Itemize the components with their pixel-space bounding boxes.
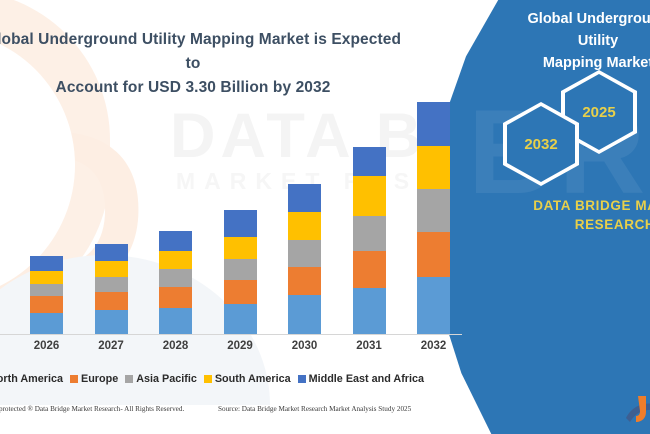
legend-swatch-icon <box>298 375 306 383</box>
chart-legend: North AmericaEuropeAsia PacificSouth Ame… <box>0 371 448 387</box>
bar-segment-europe <box>224 280 257 304</box>
bar-segment-north-america <box>288 295 321 334</box>
brand-logo-icon <box>620 392 650 426</box>
bar-2029 <box>224 210 257 334</box>
panel-title-line-1: Global Underground Utility <box>508 8 650 52</box>
x-tick-2028: 2028 <box>153 340 199 352</box>
bar-segment-south-america <box>30 271 63 284</box>
legend-item-south-america: South America <box>204 373 291 385</box>
bar-segment-middle-east-and-africa <box>95 244 128 261</box>
bar-segment-europe <box>353 251 386 288</box>
legend-item-europe: Europe <box>70 373 118 385</box>
x-tick-2026: 2026 <box>24 340 70 352</box>
bar-segment-europe <box>417 232 450 277</box>
bar-segment-asia-pacific <box>95 277 128 292</box>
bar-segment-asia-pacific <box>30 284 63 297</box>
infographic-canvas: D DATA BRIDGE MARKET RESEARCH Global Und… <box>0 0 650 434</box>
bar-segment-north-america <box>353 288 386 334</box>
bar-segment-asia-pacific <box>224 259 257 280</box>
bar-segment-asia-pacific <box>288 240 321 267</box>
panel-title-line-2: Mapping Market <box>508 52 650 74</box>
legend-swatch-icon <box>204 375 212 383</box>
brand-name-line-1: DATA BRIDGE MARKET <box>520 196 650 215</box>
legend-label: Middle East and Africa <box>309 373 424 385</box>
brand-name: DATA BRIDGE MARKET RESEARCH <box>520 196 650 234</box>
bar-segment-europe <box>288 267 321 295</box>
x-axis-tick-labels: 20252026202720282029203020312032 <box>0 340 470 360</box>
page-title-line-2: Account for USD 3.30 Billion by 2032 <box>0 76 408 100</box>
bar-segment-north-america <box>30 313 63 334</box>
hexagon-year-2032-label: 2032 <box>507 106 575 182</box>
x-tick-2032: 2032 <box>411 340 457 352</box>
legend-item-north-america: North America <box>0 373 63 385</box>
bar-segment-south-america <box>95 261 128 277</box>
legend-item-middle-east-and-africa: Middle East and Africa <box>298 373 424 385</box>
chart-plot-area <box>0 96 470 334</box>
bar-segment-europe <box>159 287 192 308</box>
bar-segment-middle-east-and-africa <box>159 231 192 250</box>
legend-label: Europe <box>81 373 118 385</box>
bar-segment-south-america <box>288 212 321 240</box>
legend-item-asia-pacific: Asia Pacific <box>125 373 197 385</box>
bar-segment-south-america <box>417 146 450 189</box>
bar-segment-north-america <box>224 304 257 334</box>
page-title-line-1: Global Underground Utility Mapping Marke… <box>0 28 408 76</box>
brand-name-line-2: RESEARCH <box>520 215 650 234</box>
bar-segment-north-america <box>417 277 450 334</box>
bar-segment-europe <box>95 292 128 310</box>
bar-segment-north-america <box>95 310 128 334</box>
hexagon-year-group: 2025 2032 <box>495 86 650 186</box>
stacked-bar-chart <box>0 96 470 336</box>
bar-segment-north-america <box>159 308 192 334</box>
panel-title: Global Underground Utility Mapping Marke… <box>508 8 650 74</box>
page-title: Global Underground Utility Mapping Marke… <box>0 28 408 100</box>
bar-segment-middle-east-and-africa <box>417 102 450 146</box>
x-axis-line <box>0 334 462 335</box>
bar-segment-middle-east-and-africa <box>30 256 63 270</box>
bar-2032 <box>417 102 450 334</box>
bar-2030 <box>288 184 321 334</box>
bar-segment-middle-east-and-africa <box>288 184 321 213</box>
legend-label: Asia Pacific <box>136 373 197 385</box>
bar-segment-middle-east-and-africa <box>224 210 257 237</box>
x-tick-2029: 2029 <box>217 340 263 352</box>
bar-segment-middle-east-and-africa <box>353 147 386 176</box>
x-tick-2025: 2025 <box>0 340 5 352</box>
bar-segment-south-america <box>353 176 386 216</box>
footer-source: Source: Data Bridge Market Research Mark… <box>218 405 411 413</box>
bar-segment-europe <box>30 296 63 312</box>
x-tick-2027: 2027 <box>88 340 134 352</box>
bar-2028 <box>159 231 192 334</box>
legend-label: North America <box>0 373 63 385</box>
bar-segment-asia-pacific <box>417 189 450 232</box>
bar-2027 <box>95 244 128 334</box>
legend-label: South America <box>215 373 291 385</box>
footer-copyright: Copyright protected ® Data Bridge Market… <box>0 405 184 413</box>
legend-swatch-icon <box>70 375 78 383</box>
x-tick-2031: 2031 <box>346 340 392 352</box>
bar-2031 <box>353 147 386 334</box>
legend-swatch-icon <box>125 375 133 383</box>
bar-segment-south-america <box>159 251 192 270</box>
bar-segment-south-america <box>224 237 257 260</box>
bar-2026 <box>30 256 63 334</box>
bar-segment-asia-pacific <box>353 216 386 252</box>
x-tick-2030: 2030 <box>282 340 328 352</box>
bar-segment-asia-pacific <box>159 269 192 287</box>
